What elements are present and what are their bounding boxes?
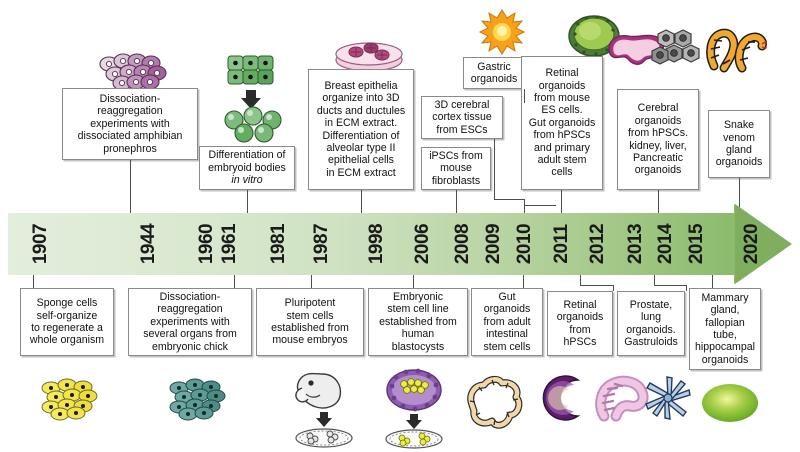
line: experiments with xyxy=(66,118,194,130)
event-box-amphibian-pronephros: Dissociation- reaggregation experiments … xyxy=(62,88,198,160)
connector-2010-top-v1 xyxy=(524,89,525,103)
event-box-human-escs: Embryonic stem cell line established fro… xyxy=(368,288,468,356)
connector-2013-top xyxy=(658,190,659,213)
line: Gastruloids xyxy=(621,336,681,348)
event-box-snake-venom-gland: Snake venom gland organoids xyxy=(708,110,770,178)
line: whole organism xyxy=(24,334,110,346)
line: human xyxy=(372,328,464,340)
line: venom xyxy=(712,132,766,144)
timeline-band xyxy=(0,213,800,275)
line: gland, xyxy=(693,304,757,316)
year-label-2009: 2009 xyxy=(483,215,505,273)
connector-2015-bottom xyxy=(712,275,713,288)
line: epithelial cells xyxy=(312,154,410,166)
year-label-1998: 1998 xyxy=(366,215,388,273)
line: organoids. xyxy=(621,324,681,336)
line: in ECM extract. xyxy=(312,117,410,129)
event-box-retinal-gut-organoids: Retinal organoids from mouse ES cells. G… xyxy=(521,56,603,190)
year-label-2013: 2013 xyxy=(625,215,647,273)
event-box-cerebral-cortex-escs: 3D cerebral cortex tissue from ESCs xyxy=(421,96,503,139)
year-label-2020: 2020 xyxy=(741,215,763,273)
line: established from xyxy=(372,316,464,328)
line: reaggregation xyxy=(66,105,194,117)
connector-1944-top xyxy=(130,160,131,213)
line: Pluripotent xyxy=(260,297,360,309)
line: to regenerate a xyxy=(24,322,110,334)
line: lung xyxy=(621,311,681,323)
line: organoids xyxy=(693,354,757,366)
blue-star-organoid-icon xyxy=(645,376,691,420)
connector-2008-top-v2 xyxy=(494,139,495,199)
connector-2008-top-h xyxy=(494,199,524,200)
line: cells xyxy=(525,166,599,178)
line: adult stem xyxy=(525,154,599,166)
pink-lung-organoid-icon xyxy=(594,372,650,422)
line: embryonic chick xyxy=(132,341,248,353)
event-box-embryonic-chick: Dissociation- reaggregation experiments … xyxy=(128,288,252,356)
line: from hPSCs. xyxy=(621,127,695,139)
line: organoids xyxy=(475,303,539,315)
line: mouse xyxy=(425,162,487,174)
line: Pancreatic xyxy=(621,152,695,164)
line: experiments with xyxy=(132,316,248,328)
connector-1981-bottom xyxy=(311,275,312,288)
event-box-breast-epithelia: Breast epithelia organize into 3D ducts … xyxy=(308,69,414,190)
connector-2012-bottom-h xyxy=(580,285,613,286)
line: dissociated amphibian xyxy=(66,130,194,142)
year-label-1961: 1961 xyxy=(219,215,241,273)
connector-1944-bottom xyxy=(234,275,235,288)
line: Gut organoids xyxy=(525,117,599,129)
connector-1981-top xyxy=(361,190,362,213)
event-box-embryoid-bodies: Differentiation of embryoid bodies in vi… xyxy=(199,146,295,190)
line: pronephros xyxy=(66,143,194,155)
line: Dissociation- xyxy=(66,93,194,105)
line: alveolar type II xyxy=(312,142,410,154)
line: blastocysts xyxy=(372,341,464,353)
line: embryoid bodies xyxy=(203,162,291,174)
line: from ESCs xyxy=(425,124,499,136)
line: hippocampal xyxy=(693,341,757,353)
connector-2014-bottom-h xyxy=(654,285,686,286)
line: Retinal xyxy=(525,67,599,79)
year-label-1981: 1981 xyxy=(268,215,290,273)
line: stem cells xyxy=(475,341,539,353)
event-box-prostate-lung-gastruloids: Prostate, lung organoids. Gastruloids xyxy=(617,291,685,356)
human-blastocyst-dish-icon xyxy=(382,368,446,448)
line: organoids xyxy=(525,80,599,92)
line: 3D cerebral xyxy=(425,99,499,111)
green-cell-dissociation-icon xyxy=(222,50,288,142)
line: cortex tissue xyxy=(425,111,499,123)
gastric-organoid-burst-icon xyxy=(478,8,526,56)
line: organoids xyxy=(712,156,766,168)
connector-2006-top xyxy=(456,190,457,213)
year-label-2012: 2012 xyxy=(587,215,609,273)
grey-hexagon-cells-icon xyxy=(652,28,704,72)
connector-1998-bottom xyxy=(413,275,414,288)
line: from mouse xyxy=(525,92,599,104)
line: in ECM extract xyxy=(312,167,410,179)
line: Breast epithelia xyxy=(312,80,410,92)
year-label-2015: 2015 xyxy=(686,215,708,273)
year-label-2006: 2006 xyxy=(412,215,434,273)
line: tube, xyxy=(693,329,757,341)
event-box-mammary-fallopian-hippocampal: Mammary gland, fallopian tube, hippocamp… xyxy=(689,288,761,370)
connector-2012-bottom-v2 xyxy=(613,285,614,291)
line: Gastric xyxy=(467,61,521,73)
connector-2014-bottom-v2 xyxy=(686,285,687,291)
line: kidney, liver, xyxy=(621,140,695,152)
line: intestinal xyxy=(475,328,539,340)
line: organoids xyxy=(467,73,521,85)
line: from adult xyxy=(475,316,539,328)
yellow-sponge-cells-icon xyxy=(38,378,108,422)
line: fibroblasts xyxy=(425,175,487,187)
line: ducts and ductules xyxy=(312,105,410,117)
connector-2012-bottom-v1 xyxy=(580,275,581,285)
line: hPSCs xyxy=(551,336,609,348)
connector-2008-top-v3 xyxy=(524,199,525,213)
line: from xyxy=(551,324,609,336)
line: self-organize xyxy=(24,310,110,322)
event-box-ipscs-mouse-fibroblasts: iPSCs from mouse fibroblasts xyxy=(421,147,491,190)
line: organoids xyxy=(551,311,609,323)
year-label-2008: 2008 xyxy=(452,215,474,273)
year-label-2014: 2014 xyxy=(655,215,677,273)
line: Gut xyxy=(475,291,539,303)
line: Dissociation- xyxy=(132,291,248,303)
line: Embryonic xyxy=(372,291,464,303)
green-mammary-organoid-icon xyxy=(700,382,760,424)
year-label-2011: 2011 xyxy=(551,215,573,273)
event-box-retinal-hpscs: Retinal organoids from hPSCs xyxy=(547,291,613,356)
purple-retinal-cup-icon xyxy=(538,372,590,424)
year-label-1987: 1987 xyxy=(311,215,333,273)
connector-2009-bottom xyxy=(523,275,524,288)
line: Sponge cells xyxy=(24,297,110,309)
connector-2014-bottom-v1 xyxy=(654,275,655,285)
line: fallopian xyxy=(693,317,757,329)
line: ES cells. xyxy=(525,104,599,116)
event-box-sponge-cells: Sponge cells self-organize to regenerate… xyxy=(20,288,114,356)
line: reaggregation xyxy=(132,303,248,315)
timeline-figure: Dissociation- reaggregation experiments … xyxy=(0,0,800,452)
line: and primary xyxy=(525,142,599,154)
line: organoids xyxy=(621,164,695,176)
line: Cerebral xyxy=(621,102,695,114)
line: several organs from xyxy=(132,328,248,340)
line: mouse embryos xyxy=(260,334,360,346)
line: stem cell line xyxy=(372,303,464,315)
event-box-gut-organoids-adult: Gut organoids from adult intestinal stem… xyxy=(471,288,543,356)
intestinal-crypt-organoid-icon xyxy=(464,375,526,433)
line: Retinal xyxy=(551,299,609,311)
mouse-embryo-dish-icon xyxy=(292,368,356,448)
connector-1907-bottom xyxy=(33,275,34,288)
event-box-cerebral-kidney-liver-pancreatic: Cerebral organoids from hPSCs. kidney, l… xyxy=(617,89,699,190)
line: Differentiation of xyxy=(203,149,291,161)
line: organize into 3D xyxy=(312,92,410,104)
teal-chick-cells-icon xyxy=(166,378,236,422)
line: established from xyxy=(260,322,360,334)
line: organoids xyxy=(621,115,695,127)
year-label-1944: 1944 xyxy=(138,215,160,273)
year-label-1960: 1960 xyxy=(196,215,218,273)
line-italic: in vitro xyxy=(231,174,262,186)
line: Mammary xyxy=(693,292,757,304)
connector-2010-top-h xyxy=(524,205,556,206)
line: from hPSCs xyxy=(525,129,599,141)
line: Prostate, xyxy=(621,299,681,311)
line: Snake xyxy=(712,119,766,131)
connector-2011-top xyxy=(561,190,562,213)
year-label-2010: 2010 xyxy=(514,215,536,273)
line: stem cells xyxy=(260,310,360,322)
event-box-gastric-organoids: Gastric organoids xyxy=(463,57,525,89)
event-box-mouse-escs: Pluripotent stem cells established from … xyxy=(256,288,364,356)
connector-1960-top xyxy=(247,190,248,213)
line: Differentiation of xyxy=(312,130,410,142)
year-label-1907: 1907 xyxy=(30,215,52,273)
line: iPSCs from xyxy=(425,150,487,162)
line: gland xyxy=(712,144,766,156)
snake-venom-gland-icon xyxy=(706,24,768,70)
purple-cell-cluster-icon xyxy=(95,50,175,92)
